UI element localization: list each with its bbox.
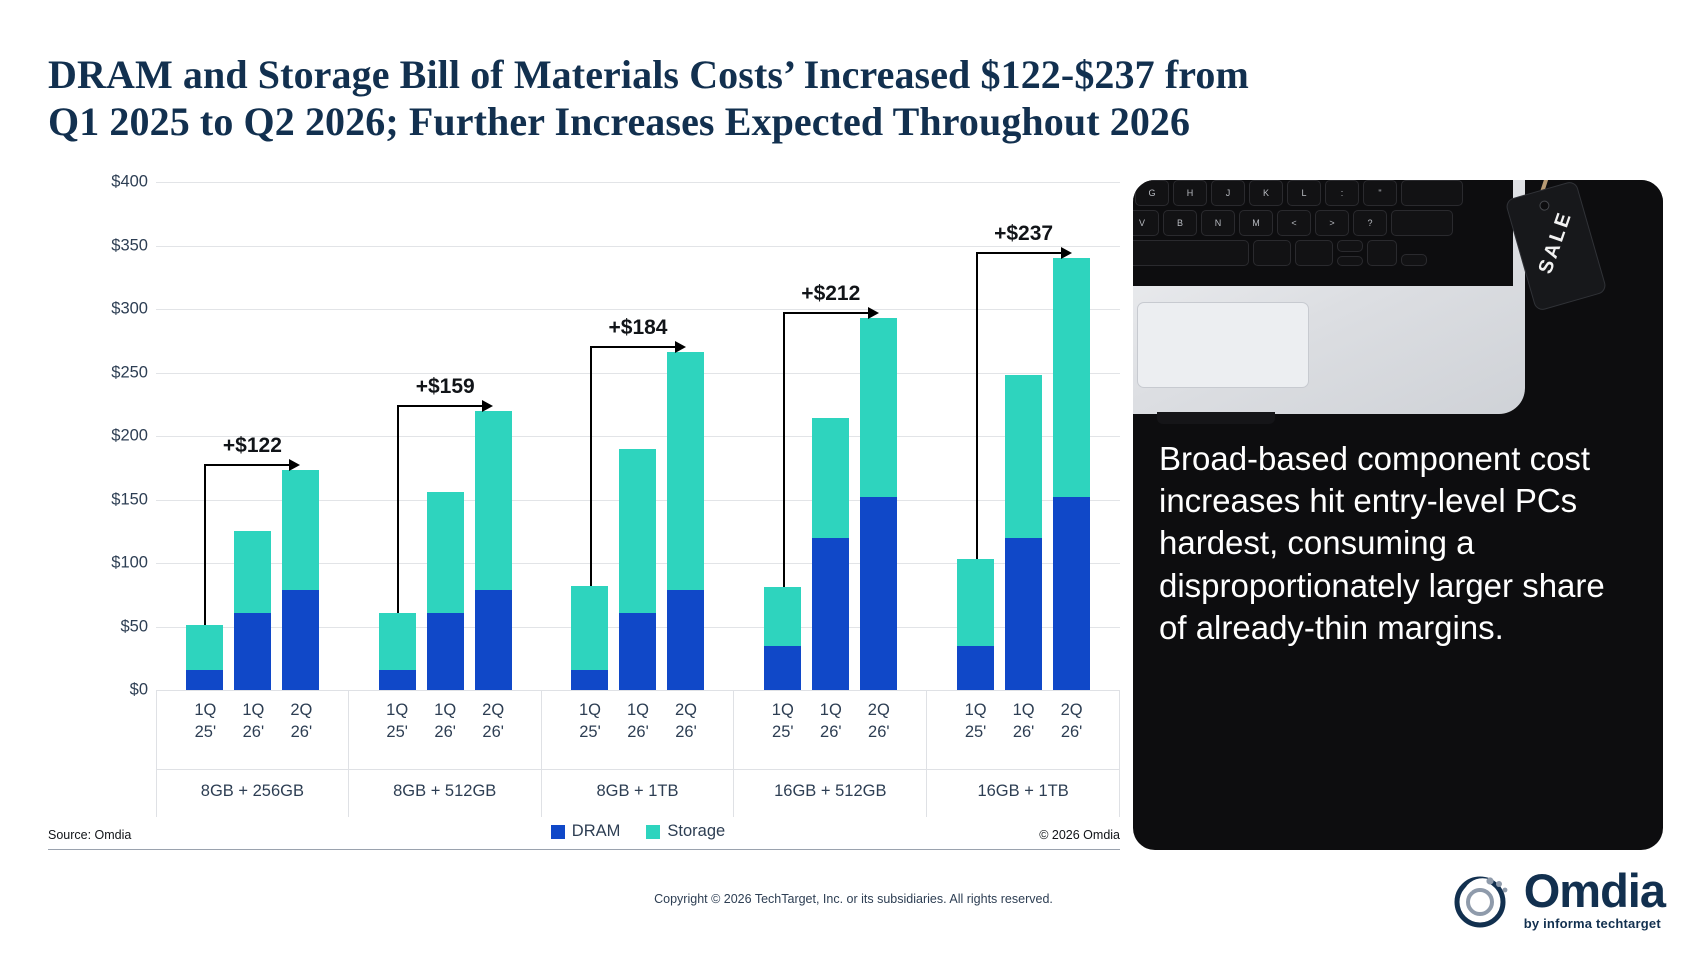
x-axis-group-cell: 1Q25'1Q26'2Q26'8GB + 256GB <box>156 691 349 817</box>
quarter-label: 2Q26' <box>1049 699 1095 744</box>
y-axis-tick-label: $400 <box>56 173 148 192</box>
quarter-label-year: 26' <box>422 721 468 743</box>
category-label: 8GB + 1TB <box>542 769 734 801</box>
quarter-label-top: 1Q <box>808 699 854 721</box>
keyboard-key: : <box>1325 180 1359 206</box>
keyboard-key-label: V <box>1133 218 1158 228</box>
y-axis: $0$50$100$150$200$250$300$350$400 <box>48 182 148 690</box>
quarter-label: 1Q25' <box>953 699 999 744</box>
quarter-label-top: 1Q <box>374 699 420 721</box>
keyboard-key <box>1133 240 1249 266</box>
delta-bracket <box>590 346 686 586</box>
bar-segment-dram[interactable] <box>957 646 994 690</box>
omdia-logo-mark <box>1448 868 1512 932</box>
bar-segment-dram[interactable] <box>667 590 704 690</box>
quarter-label-year: 26' <box>278 721 324 743</box>
source-bar: Source: Omdia © 2026 Omdia <box>48 828 1120 850</box>
omdia-wordmark: Omdia <box>1524 869 1665 914</box>
y-axis-tick-label: $100 <box>56 554 148 573</box>
delta-arrow-icon <box>675 341 686 353</box>
keyboard-key <box>1367 240 1397 266</box>
category-label: 8GB + 256GB <box>157 769 348 801</box>
quarter-label: 2Q26' <box>470 699 516 744</box>
keyboard-key: G <box>1135 180 1169 206</box>
delta-bracket-horizontal <box>783 312 869 314</box>
quarter-label-top: 1Q <box>182 699 228 721</box>
bar-segment-dram[interactable] <box>186 670 223 690</box>
keyboard-key: B <box>1163 210 1197 236</box>
source-right: © 2026 Omdia <box>1039 828 1120 842</box>
keyboard-key <box>1337 256 1363 266</box>
keyboard-key-label: > <box>1316 218 1348 228</box>
laptop-trackpad <box>1137 302 1309 388</box>
quarter-label: 1Q26' <box>422 699 468 744</box>
keyboard-key: L <box>1287 180 1321 206</box>
delta-bracket-vertical <box>976 252 978 559</box>
delta-label: +$184 <box>609 316 668 340</box>
stacked-bar[interactable] <box>571 586 608 690</box>
keyboard-key: ? <box>1353 210 1387 236</box>
keyboard-key-label: L <box>1288 188 1320 198</box>
x-axis-group-cell: 1Q25'1Q26'2Q26'16GB + 512GB <box>734 691 927 817</box>
keyboard-key-label: ? <box>1354 218 1386 228</box>
delta-bracket-horizontal <box>204 464 290 466</box>
chart-panel: $0$50$100$150$200$250$300$350$400 +$122+… <box>48 182 1120 822</box>
quarter-label-year: 26' <box>615 721 661 743</box>
delta-bracket-horizontal <box>397 405 483 407</box>
sale-tag-hole <box>1538 199 1550 211</box>
quarter-label-row: 1Q25'1Q26'2Q26' <box>542 699 734 761</box>
quarter-label-row: 1Q25'1Q26'2Q26' <box>927 699 1119 761</box>
bar-segment-storage[interactable] <box>957 559 994 645</box>
delta-label: +$212 <box>801 282 860 306</box>
bar-segment-dram[interactable] <box>764 646 801 690</box>
quarter-label: 2Q26' <box>278 699 324 744</box>
quarter-label-year: 26' <box>470 721 516 743</box>
x-axis-group-cell: 1Q25'1Q26'2Q26'8GB + 1TB <box>542 691 735 817</box>
quarter-label-row: 1Q25'1Q26'2Q26' <box>157 699 348 761</box>
bar-segment-dram[interactable] <box>1005 538 1042 690</box>
laptop-keyboard: GHJKL:"VBNM<>? <box>1133 180 1513 286</box>
omdia-logo: Omdia by informa techtarget <box>1448 868 1665 932</box>
delta-label: +$237 <box>994 222 1053 246</box>
quarter-label-top: 1Q <box>422 699 468 721</box>
keyboard-key-label: M <box>1240 218 1272 228</box>
quarter-label-top: 2Q <box>856 699 902 721</box>
quarter-label-year: 26' <box>808 721 854 743</box>
keyboard-key-label: J <box>1212 188 1244 198</box>
plot-area: +$122+$159+$184+$212+$237 <box>156 182 1120 690</box>
stacked-bar[interactable] <box>764 587 801 690</box>
quarter-label-year: 25' <box>953 721 999 743</box>
keyboard-key-label: : <box>1326 188 1358 198</box>
keyboard-key: < <box>1277 210 1311 236</box>
laptop-base-edge <box>1157 412 1275 424</box>
category-label: 8GB + 512GB <box>349 769 541 801</box>
keyboard-key: V <box>1133 210 1159 236</box>
delta-bracket <box>204 464 300 625</box>
keyboard-key-label: H <box>1174 188 1206 198</box>
quarter-label: 1Q26' <box>615 699 661 744</box>
keyboard-key-label: N <box>1202 218 1234 228</box>
quarter-label-row: 1Q25'1Q26'2Q26' <box>349 699 541 761</box>
quarter-label-top: 1Q <box>1001 699 1047 721</box>
bar-segment-storage[interactable] <box>186 625 223 669</box>
quarter-label: 1Q25' <box>182 699 228 744</box>
keyboard-key <box>1401 254 1427 266</box>
delta-arrow-icon <box>868 307 879 319</box>
keyboard-key: N <box>1201 210 1235 236</box>
stacked-bar[interactable] <box>957 559 994 690</box>
x-axis-label-table: 1Q25'1Q26'2Q26'8GB + 256GB1Q25'1Q26'2Q26… <box>156 690 1120 816</box>
keyboard-key: H <box>1173 180 1207 206</box>
sale-tag-label: SALE <box>1529 192 1583 292</box>
quarter-label-top: 2Q <box>663 699 709 721</box>
quarter-label-top: 2Q <box>470 699 516 721</box>
quarter-label-top: 2Q <box>278 699 324 721</box>
quarter-label: 1Q25' <box>374 699 420 744</box>
keyboard-key: K <box>1249 180 1283 206</box>
stacked-bar[interactable] <box>186 625 223 690</box>
category-label: 16GB + 1TB <box>927 769 1119 801</box>
keyboard-key <box>1253 240 1291 266</box>
side-callout-text: Broad-based component cost increases hit… <box>1159 438 1633 649</box>
quarter-label-year: 26' <box>1049 721 1095 743</box>
keyboard-key <box>1295 240 1333 266</box>
category-label: 16GB + 512GB <box>734 769 926 801</box>
quarter-label: 1Q25' <box>567 699 613 744</box>
bar-segment-storage[interactable] <box>379 613 416 670</box>
delta-bracket <box>783 312 879 587</box>
laptop-sale-photo: GHJKL:"VBNM<>? SALE <box>1133 180 1663 430</box>
delta-bracket <box>397 405 493 613</box>
delta-label: +$159 <box>416 375 475 399</box>
delta-label: +$122 <box>223 434 282 458</box>
omdia-tagline: by informa techtarget <box>1524 916 1665 931</box>
delta-arrow-icon <box>289 459 300 471</box>
laptop-body: GHJKL:"VBNM<>? <box>1133 180 1525 414</box>
quarter-label-year: 25' <box>760 721 806 743</box>
quarter-label-year: 26' <box>1001 721 1047 743</box>
quarter-label-year: 26' <box>230 721 276 743</box>
delta-bracket-horizontal <box>590 346 676 348</box>
keyboard-key <box>1337 240 1363 252</box>
y-axis-tick-label: $250 <box>56 363 148 382</box>
y-axis-tick-label: $200 <box>56 427 148 446</box>
quarter-label: 2Q26' <box>856 699 902 744</box>
keyboard-key: " <box>1363 180 1397 206</box>
quarter-label-top: 1Q <box>760 699 806 721</box>
y-axis-tick-label: $150 <box>56 490 148 509</box>
stacked-bar[interactable] <box>379 613 416 690</box>
quarter-label: 1Q26' <box>1001 699 1047 744</box>
delta-arrow-icon <box>482 400 493 412</box>
quarter-label-top: 2Q <box>1049 699 1095 721</box>
source-left: Source: Omdia <box>48 828 131 842</box>
delta-bracket-vertical <box>204 464 206 625</box>
delta-bracket <box>976 252 1072 559</box>
quarter-label-year: 26' <box>663 721 709 743</box>
quarter-label-year: 26' <box>856 721 902 743</box>
y-axis-tick-label: $350 <box>56 236 148 255</box>
x-axis-group-cell: 1Q25'1Q26'2Q26'8GB + 512GB <box>349 691 542 817</box>
page-title: DRAM and Storage Bill of Materials Costs… <box>48 52 1668 146</box>
keyboard-key <box>1391 210 1453 236</box>
keyboard-key-label: K <box>1250 188 1282 198</box>
bar-segment-dram[interactable] <box>619 613 656 690</box>
side-callout-card: GHJKL:"VBNM<>? SALE Broad-based componen… <box>1133 180 1663 850</box>
keyboard-key: J <box>1211 180 1245 206</box>
quarter-label-top: 1Q <box>615 699 661 721</box>
y-axis-tick-label: $300 <box>56 300 148 319</box>
delta-arrow-icon <box>1061 247 1072 259</box>
quarter-label-top: 1Q <box>567 699 613 721</box>
delta-bracket-vertical <box>397 405 399 613</box>
bar-segment-dram[interactable] <box>571 670 608 690</box>
title-line-2: Q1 2025 to Q2 2026; Further Increases Ex… <box>48 99 1668 146</box>
keyboard-key-label: < <box>1278 218 1310 228</box>
y-axis-tick-label: $0 <box>56 681 148 700</box>
quarter-label: 1Q26' <box>230 699 276 744</box>
quarter-label-year: 25' <box>182 721 228 743</box>
quarter-label: 1Q25' <box>760 699 806 744</box>
quarter-label: 1Q26' <box>808 699 854 744</box>
quarter-label-year: 25' <box>567 721 613 743</box>
title-line-1: DRAM and Storage Bill of Materials Costs… <box>48 52 1668 99</box>
bar-segment-storage[interactable] <box>764 587 801 645</box>
keyboard-key: > <box>1315 210 1349 236</box>
bar-segment-storage[interactable] <box>571 586 608 670</box>
keyboard-key-label: G <box>1136 188 1168 198</box>
omdia-logo-text: Omdia by informa techtarget <box>1524 869 1665 931</box>
bar-segment-dram[interactable] <box>427 613 464 690</box>
keyboard-key <box>1401 180 1463 206</box>
keyboard-key-label: B <box>1164 218 1196 228</box>
delta-bracket-vertical <box>783 312 785 587</box>
delta-bracket-vertical <box>590 346 592 586</box>
quarter-label-year: 25' <box>374 721 420 743</box>
y-axis-tick-label: $50 <box>56 617 148 636</box>
quarter-label: 2Q26' <box>663 699 709 744</box>
keyboard-key-label: " <box>1364 188 1396 198</box>
x-axis-group-cell: 1Q25'1Q26'2Q26'16GB + 1TB <box>927 691 1120 817</box>
quarter-label-top: 1Q <box>230 699 276 721</box>
quarter-label-row: 1Q25'1Q26'2Q26' <box>734 699 926 761</box>
delta-bracket-horizontal <box>976 252 1062 254</box>
keyboard-key: M <box>1239 210 1273 236</box>
bar-segment-dram[interactable] <box>379 670 416 690</box>
quarter-label-top: 1Q <box>953 699 999 721</box>
